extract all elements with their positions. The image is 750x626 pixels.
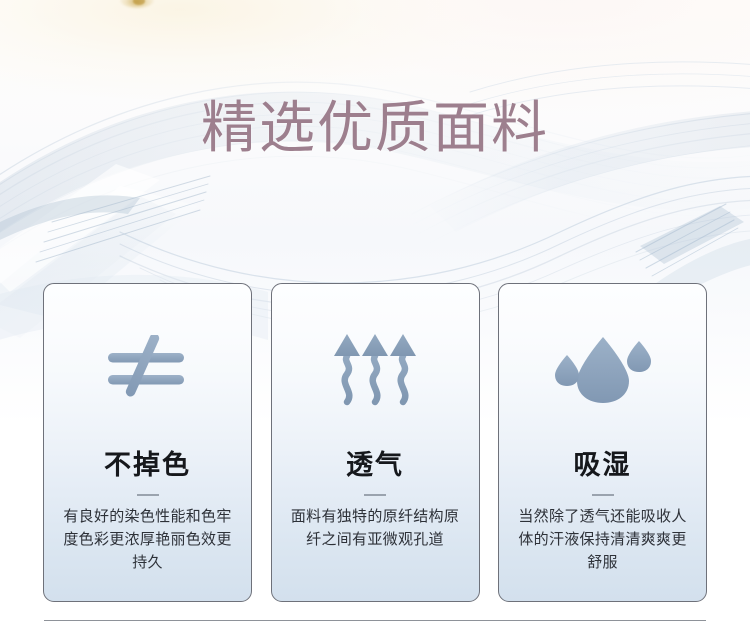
not-equal-icon [102, 335, 194, 403]
feature-card-moisture-absorbing[interactable]: 吸湿 当然除了透气还能吸收人体的汗液保持清清爽爽更舒服 [498, 283, 707, 602]
card-heading: 不掉色 [104, 450, 191, 480]
card-divider [137, 494, 159, 496]
feature-icon-container [499, 284, 706, 454]
page-title: 精选优质面料 [0, 96, 750, 162]
card-heading: 透气 [346, 450, 404, 480]
card-description: 当然除了透气还能吸收人体的汗液保持清清爽爽更舒服 [512, 506, 694, 575]
breathable-arrows-icon [329, 332, 421, 406]
feature-card-list: 不掉色 有良好的染色性能和色牢度色彩更浓厚艳丽色效更持久 [43, 283, 707, 603]
card-divider [592, 494, 614, 496]
feature-icon-container [44, 284, 251, 454]
bottom-divider [44, 620, 706, 621]
card-heading: 吸湿 [574, 450, 632, 480]
card-description: 面料有独特的原纤结构原纤之间有亚微观孔道 [284, 506, 466, 552]
water-droplets-icon [555, 333, 651, 405]
feature-card-breathable[interactable]: 透气 面料有独特的原纤结构原纤之间有亚微观孔道 [271, 283, 480, 602]
card-description: 有良好的染色性能和色牢度色彩更浓厚艳丽色效更持久 [57, 506, 239, 575]
product-feature-banner: 精选优质面料 不掉色 有良好的染色性能和 [0, 0, 750, 626]
card-divider [364, 494, 386, 496]
feature-icon-container [272, 284, 479, 454]
feature-card-colorfast[interactable]: 不掉色 有良好的染色性能和色牢度色彩更浓厚艳丽色效更持久 [43, 283, 252, 602]
